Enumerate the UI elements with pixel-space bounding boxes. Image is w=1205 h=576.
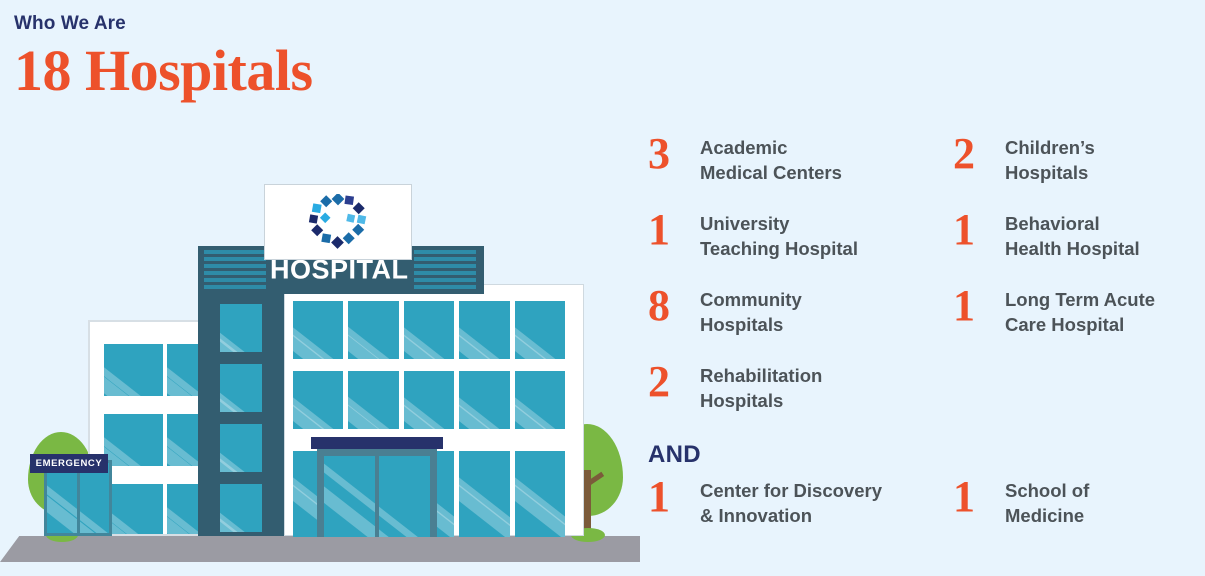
window-pane — [104, 484, 163, 534]
window-pane — [515, 371, 565, 429]
stat-number: 1 — [648, 210, 700, 250]
window-pane — [515, 301, 565, 359]
window-pane — [515, 451, 565, 537]
door-divider — [375, 456, 379, 537]
window-pane — [220, 484, 262, 532]
louver-panel-left — [204, 250, 266, 290]
ground-strip — [0, 536, 640, 562]
tower-window — [220, 304, 262, 352]
stat-label: Rehabilitation Hospitals — [700, 361, 822, 413]
stat-item: 1 Center for Discovery & Innovation — [648, 476, 953, 536]
stat-number: 2 — [953, 134, 1005, 174]
window-pane — [293, 371, 343, 429]
window-pane — [104, 414, 163, 466]
stat-label: Academic Medical Centers — [700, 133, 842, 185]
logo-signboard — [264, 184, 412, 260]
window-pane — [220, 424, 262, 472]
window-row — [293, 301, 565, 359]
stat-item: 2 Children’s Hospitals — [953, 133, 1203, 209]
stat-number: 1 — [648, 477, 700, 517]
stat-item: 1 University Teaching Hospital — [648, 209, 953, 285]
stat-number: 1 — [953, 210, 1005, 250]
stat-item-empty — [953, 361, 1203, 437]
stat-number: 1 — [953, 477, 1005, 517]
emergency-sign: EMERGENCY — [30, 454, 108, 473]
stat-number: 1 — [953, 286, 1005, 326]
secondary-stats-grid: 1 Center for Discovery & Innovation 1 Sc… — [648, 476, 1203, 536]
tower-window — [220, 484, 262, 532]
window-pane — [459, 451, 509, 537]
window-pane — [459, 371, 509, 429]
eyebrow-text: Who We Are — [14, 14, 313, 35]
window-pane — [459, 301, 509, 359]
stat-number: 3 — [648, 134, 700, 174]
stat-label: Children’s Hospitals — [1005, 133, 1095, 185]
right-wing-building — [284, 284, 584, 536]
louver-panel-right — [414, 250, 476, 290]
stats-panel: 3 Academic Medical Centers 2 Children’s … — [648, 133, 1203, 536]
primary-stats-grid: 3 Academic Medical Centers 2 Children’s … — [648, 133, 1203, 437]
header-block: Who We Are 18 Hospitals — [14, 14, 313, 100]
hospital-illustration: EMERGENCY — [0, 170, 640, 576]
stat-number: 2 — [648, 362, 700, 402]
page-title: 18 Hospitals — [14, 42, 313, 100]
diamond-ring-icon — [307, 194, 369, 250]
stat-item: 3 Academic Medical Centers — [648, 133, 953, 209]
window-pane — [404, 301, 454, 359]
stat-item: 1 Behavioral Health Hospital — [953, 209, 1203, 285]
emergency-sign-label: EMERGENCY — [36, 458, 103, 469]
window-pane — [348, 371, 398, 429]
window-pane — [293, 301, 343, 359]
stat-item: 2 Rehabilitation Hospitals — [648, 361, 953, 437]
window-pane — [404, 371, 454, 429]
entrance-canopy — [311, 437, 443, 449]
infographic-canvas: Who We Are 18 Hospitals — [0, 0, 1205, 576]
window-pane — [220, 364, 262, 412]
stat-item: 1 Long Term Acute Care Hospital — [953, 285, 1203, 361]
stat-number: 8 — [648, 286, 700, 326]
window-pane — [104, 344, 163, 396]
window-pane — [348, 301, 398, 359]
tower-window — [220, 364, 262, 412]
stat-label: University Teaching Hospital — [700, 209, 858, 261]
main-entrance-door — [317, 449, 437, 537]
stat-label: Center for Discovery & Innovation — [700, 476, 882, 528]
stat-label: Community Hospitals — [700, 285, 802, 337]
stat-item: 8 Community Hospitals — [648, 285, 953, 361]
tower-window — [220, 424, 262, 472]
stat-item: 1 School of Medicine — [953, 476, 1203, 536]
stat-label: Long Term Acute Care Hospital — [1005, 285, 1155, 337]
conjunction-label: AND — [648, 441, 1203, 469]
door-divider — [77, 463, 80, 533]
stat-label: Behavioral Health Hospital — [1005, 209, 1140, 261]
window-row — [293, 371, 565, 429]
stat-label: School of Medicine — [1005, 476, 1089, 528]
window-pane — [220, 304, 262, 352]
